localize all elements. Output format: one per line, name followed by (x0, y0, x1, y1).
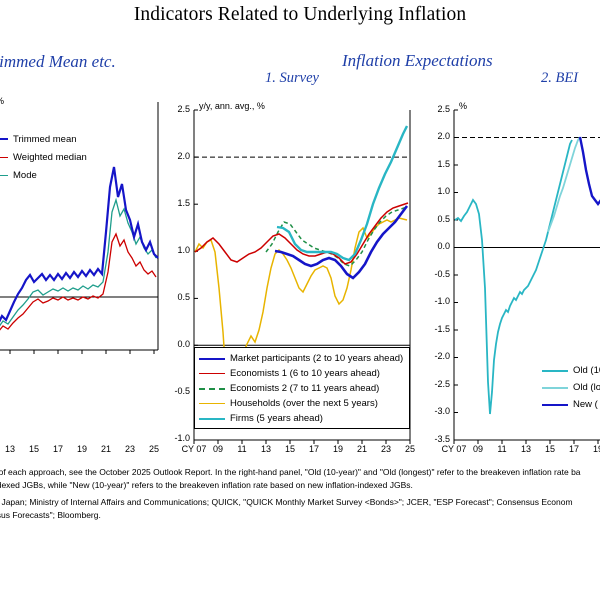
legend-label-trimmed-mean: Trimmed mean (13, 134, 77, 145)
right-ytick-5: 0.0 (416, 241, 450, 251)
footnote-line-2: of Japan; Ministry of Internal Affairs a… (0, 496, 600, 509)
middle-xtick-0: CY 07 (176, 444, 212, 454)
legend-label-firms: Firms (5 years ahead) (230, 413, 323, 424)
right-ytick-12: -3.5 (416, 434, 450, 444)
legend-swatch-old-longest (542, 387, 568, 389)
legend-label-weighted-median: Weighted median (13, 152, 87, 163)
middle-xtick-8: 23 (376, 444, 396, 454)
middle-xtick-9: 25 (400, 444, 420, 454)
right-ytick-0: 2.5 (416, 104, 450, 114)
right-xtick-4: 15 (540, 444, 560, 454)
middle-xtick-7: 21 (352, 444, 372, 454)
middle-ytick-7: -1.0 (156, 433, 190, 443)
middle-xtick-2: 11 (232, 444, 252, 454)
legend-label-new-10year: New ( (573, 399, 598, 410)
footnote-line-0: s of each approach, see the October 2025… (0, 466, 600, 479)
middle-xtick-1: 09 (208, 444, 228, 454)
legend-swatch-households (199, 403, 225, 404)
legend-swatch-economists-2 (199, 388, 225, 390)
page-title: Indicators Related to Underlying Inflati… (0, 4, 600, 26)
middle-xtick-5: 17 (304, 444, 324, 454)
legend-swatch-mode (0, 175, 8, 176)
middle-ytick-4: 0.5 (156, 292, 190, 302)
legend-swatch-old-10year (542, 370, 568, 372)
left-xtick-6: 25 (144, 444, 164, 454)
left-xtick-4: 21 (96, 444, 116, 454)
right-xtick-5: 17 (564, 444, 584, 454)
right-ytick-4: 0.5 (416, 214, 450, 224)
right-ytick-3: 1.0 (416, 186, 450, 196)
left-xtick-1: 15 (24, 444, 44, 454)
middle-ytick-1: 2.0 (156, 151, 190, 161)
legend-swatch-trimmed-mean (0, 138, 8, 140)
right-panel-legend: Old (10- Old (lo New ( (542, 362, 600, 413)
footnote-line-1: ndexed JGBs, while "New (10-year)" refer… (0, 479, 600, 492)
left-xtick-2: 17 (48, 444, 68, 454)
footnotes: s of each approach, see the October 2025… (0, 466, 600, 521)
legend-label-mode: Mode (13, 170, 37, 181)
right-xtick-6: 19 (588, 444, 600, 454)
middle-ytick-2: 1.5 (156, 198, 190, 208)
right-ytick-9: -2.0 (416, 351, 450, 361)
inflation-expectations-title: Inflation Expectations (342, 51, 493, 71)
left-panel-title: Trimmed Mean etc. (0, 52, 116, 72)
right-panel-subtitle: 2. BEI (541, 70, 578, 87)
right-ytick-1: 2.0 (416, 131, 450, 141)
middle-panel-subtitle: 1. Survey (265, 70, 319, 87)
right-xtick-3: 13 (516, 444, 536, 454)
legend-swatch-market-participants (199, 358, 225, 360)
legend-label-economists-1: Economists 1 (6 to 10 years ahead) (230, 368, 380, 379)
legend-label-market-participants: Market participants (2 to 10 years ahead… (230, 353, 403, 364)
legend-row-firms: Firms (5 years ahead) (199, 411, 405, 426)
legend-row-economists-2: Economists 2 (7 to 11 years ahead) (199, 381, 405, 396)
legend-swatch-economists-1 (199, 373, 225, 374)
middle-xtick-6: 19 (328, 444, 348, 454)
legend-row-market-participants: Market participants (2 to 10 years ahead… (199, 351, 405, 366)
middle-panel: Market participants (2 to 10 years ahead… (170, 92, 420, 452)
legend-label-economists-2: Economists 2 (7 to 11 years ahead) (230, 383, 379, 394)
legend-swatch-weighted-median (0, 157, 8, 158)
middle-ytick-6: -0.5 (156, 386, 190, 396)
middle-ytick-0: 2.5 (156, 104, 190, 114)
left-xtick-5: 23 (120, 444, 140, 454)
middle-ytick-5: 0.0 (156, 339, 190, 349)
right-ytick-11: -3.0 (416, 406, 450, 416)
right-ytick-6: -0.5 (416, 269, 450, 279)
legend-swatch-firms (199, 418, 225, 420)
left-y-unit: % (0, 96, 4, 106)
middle-xtick-3: 13 (256, 444, 276, 454)
middle-panel-legend: Market participants (2 to 10 years ahead… (194, 347, 410, 429)
right-xtick-1: 09 (468, 444, 488, 454)
right-ytick-7: -1.0 (416, 296, 450, 306)
legend-label-old-10year: Old (10- (573, 365, 600, 376)
legend-row-households: Households (over the next 5 years) (199, 396, 405, 411)
footnote-line-3: nsus Forecasts"; Bloomberg. (0, 509, 600, 522)
slide-root: Indicators Related to Underlying Inflati… (0, 0, 600, 600)
legend-label-old-longest: Old (lo (573, 382, 600, 393)
left-xtick-0: 13 (0, 444, 20, 454)
right-xtick-2: 11 (492, 444, 512, 454)
left-panel-legend: Trimmed mean Weighted median Mode (0, 130, 87, 184)
right-ytick-10: -2.5 (416, 379, 450, 389)
legend-label-households: Households (over the next 5 years) (230, 398, 378, 409)
right-ytick-8: -1.5 (416, 324, 450, 334)
right-xtick-0: CY 07 (436, 444, 472, 454)
middle-ytick-3: 1.0 (156, 245, 190, 255)
middle-xtick-4: 15 (280, 444, 300, 454)
left-xtick-3: 19 (72, 444, 92, 454)
legend-swatch-new-10year (542, 404, 568, 406)
legend-row-economists-1: Economists 1 (6 to 10 years ahead) (199, 366, 405, 381)
right-ytick-2: 1.5 (416, 159, 450, 169)
